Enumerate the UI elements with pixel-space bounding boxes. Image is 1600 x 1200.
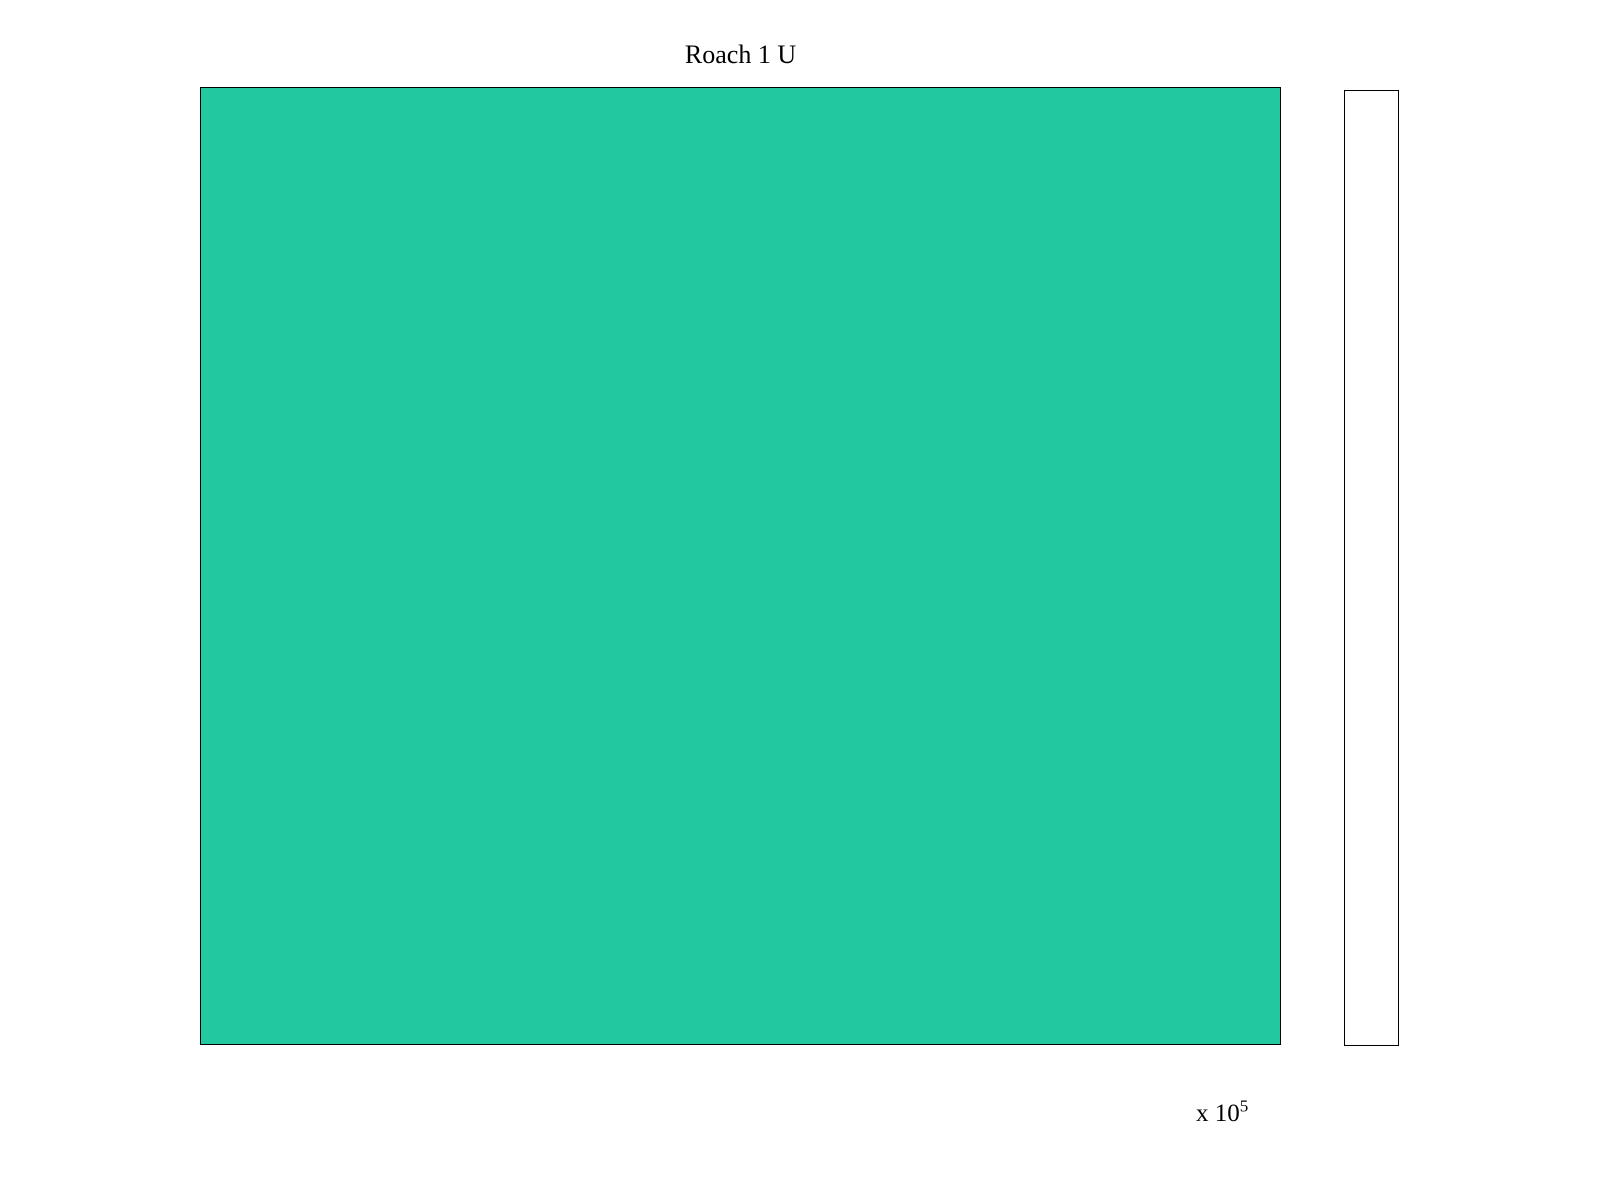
figure-canvas: Roach 1 U x 105 bbox=[0, 0, 1600, 1200]
x-exponent-base: x 10 bbox=[1196, 1100, 1240, 1127]
colorbar-gradient bbox=[1345, 91, 1398, 1045]
x-exponent-power: 5 bbox=[1240, 1097, 1249, 1116]
page-title: Roach 1 U bbox=[200, 42, 1281, 68]
heatmap-axes[interactable] bbox=[200, 87, 1281, 1045]
x-axis-exponent-label: x 105 bbox=[1196, 1100, 1248, 1128]
heatmap-image bbox=[201, 88, 1280, 1044]
colorbar[interactable] bbox=[1344, 90, 1399, 1046]
